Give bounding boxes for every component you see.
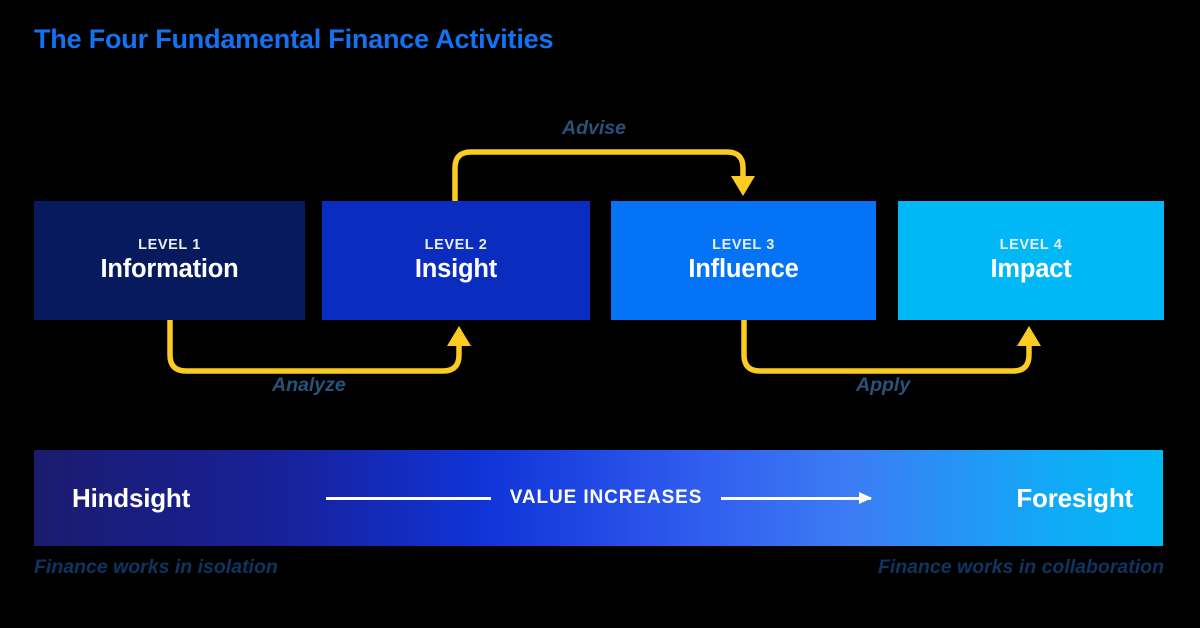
value-arrow-right-icon (859, 492, 872, 504)
advise-arrow-path (455, 152, 743, 201)
level-2-title: Insight (415, 255, 497, 284)
level-1-title: Information (100, 255, 238, 284)
level-1-kicker: LEVEL 1 (138, 237, 201, 253)
value-increases-label: VALUE INCREASES (510, 487, 703, 509)
level-3-title: Influence (688, 255, 798, 284)
apply-arrow-path (744, 320, 1029, 371)
footnote-isolation: Finance works in isolation (34, 556, 278, 579)
footnote-collaboration: Finance works in collaboration (878, 556, 1164, 579)
level-box-information[interactable]: LEVEL 1 Information (34, 201, 305, 320)
level-box-insight[interactable]: LEVEL 2 Insight (322, 201, 590, 320)
value-gradient-bar: Hindsight VALUE INCREASES Foresight (34, 450, 1163, 546)
value-line-right (721, 497, 871, 500)
flow-label-analyze: Analyze (272, 374, 346, 397)
level-3-kicker: LEVEL 3 (712, 237, 775, 253)
value-line-left (326, 497, 491, 500)
analyze-arrowhead (447, 326, 471, 346)
advise-arrowhead (731, 176, 755, 196)
page-title: The Four Fundamental Finance Activities (34, 24, 553, 55)
analyze-arrow-path (170, 320, 459, 371)
flow-label-advise: Advise (562, 117, 626, 140)
foresight-label: Foresight (1016, 483, 1133, 514)
flow-label-apply: Apply (856, 374, 910, 397)
level-2-kicker: LEVEL 2 (425, 237, 488, 253)
value-increases-group: VALUE INCREASES (34, 487, 1163, 509)
level-4-title: Impact (991, 255, 1072, 284)
level-boxes-row: LEVEL 1 Information LEVEL 2 Insight LEVE… (34, 201, 1164, 320)
level-box-impact[interactable]: LEVEL 4 Impact (898, 201, 1164, 320)
apply-arrowhead (1017, 326, 1041, 346)
level-box-influence[interactable]: LEVEL 3 Influence (611, 201, 876, 320)
level-4-kicker: LEVEL 4 (1000, 237, 1063, 253)
